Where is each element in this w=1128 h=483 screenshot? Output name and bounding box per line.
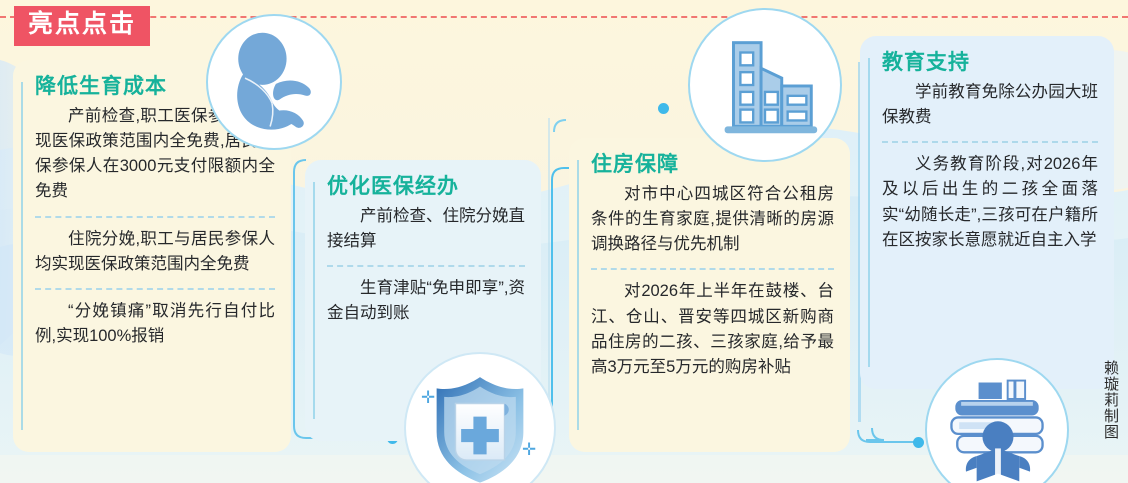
medical-shield-icon bbox=[404, 352, 556, 483]
card-accent-bar bbox=[868, 58, 870, 367]
connector-dot-housing bbox=[658, 103, 669, 114]
infographic-canvas: 亮点点击 bbox=[0, 0, 1128, 483]
card-accent-bar bbox=[577, 160, 579, 430]
card-education-support[interactable]: 教育支持 学前教育免除公办园大班保教费 义务教育阶段,对2026年及以后出生的二… bbox=[860, 36, 1114, 389]
connector-dot-books bbox=[913, 437, 924, 448]
card-paragraph: 生育津贴“免申即享”,资金自动到账 bbox=[327, 276, 525, 326]
card-title: 优化医保经办 bbox=[327, 174, 525, 200]
card-paragraph: 产前检查、住院分娩直接结算 bbox=[327, 204, 525, 254]
card-paragraph: 义务教育阶段,对2026年及以后出生的二孩全面落实“幼随长走”,三孩可在户籍所在… bbox=[882, 152, 1098, 252]
paragraph-divider bbox=[327, 265, 525, 267]
card-paragraph: 住院分娩,职工与居民参保人均实现医保政策范围内全免费 bbox=[35, 227, 275, 277]
paragraph-divider bbox=[35, 216, 275, 218]
paragraph-divider bbox=[882, 141, 1098, 143]
card-paragraph: “分娩镇痛”取消先行自付比例,实现100%报销 bbox=[35, 299, 275, 349]
card-paragraph: 对市中心四城区符合公租房条件的生育家庭,提供清晰的房源调换路径与优先机制 bbox=[591, 182, 834, 257]
card-body: 优化医保经办 产前检查、住院分娩直接结算 生育津贴“免申即享”,资金自动到账 bbox=[305, 160, 541, 337]
paragraph-divider bbox=[35, 288, 275, 290]
building-icon bbox=[688, 8, 842, 162]
card-paragraph: 对2026年上半年在鼓楼、台江、仓山、晋安等四城区新购商品住房的二孩、三孩家庭,… bbox=[591, 279, 834, 379]
fetus-icon bbox=[206, 14, 342, 150]
designer-credit: 赖璇莉制图 bbox=[1094, 360, 1120, 440]
plus-decor-icon: ✛ bbox=[522, 440, 536, 460]
card-accent-bar bbox=[21, 82, 23, 430]
card-body: 教育支持 学前教育免除公办园大班保教费 义务教育阶段,对2026年及以后出生的二… bbox=[860, 36, 1114, 263]
books-icon bbox=[925, 358, 1069, 483]
card-accent-bar bbox=[313, 182, 315, 419]
card-title: 住房保障 bbox=[591, 152, 834, 178]
highlight-badge: 亮点点击 bbox=[14, 6, 150, 46]
card-housing-guarantee[interactable]: 住房保障 对市中心四城区符合公租房条件的生育家庭,提供清晰的房源调换路径与优先机… bbox=[569, 138, 850, 452]
card-title: 教育支持 bbox=[882, 50, 1098, 76]
plus-decor-icon: ✛ bbox=[421, 388, 435, 408]
card-body: 住房保障 对市中心四城区符合公租房条件的生育家庭,提供清晰的房源调换路径与优先机… bbox=[569, 138, 850, 390]
card-paragraph: 学前教育免除公办园大班保教费 bbox=[882, 80, 1098, 130]
paragraph-divider bbox=[591, 268, 834, 270]
